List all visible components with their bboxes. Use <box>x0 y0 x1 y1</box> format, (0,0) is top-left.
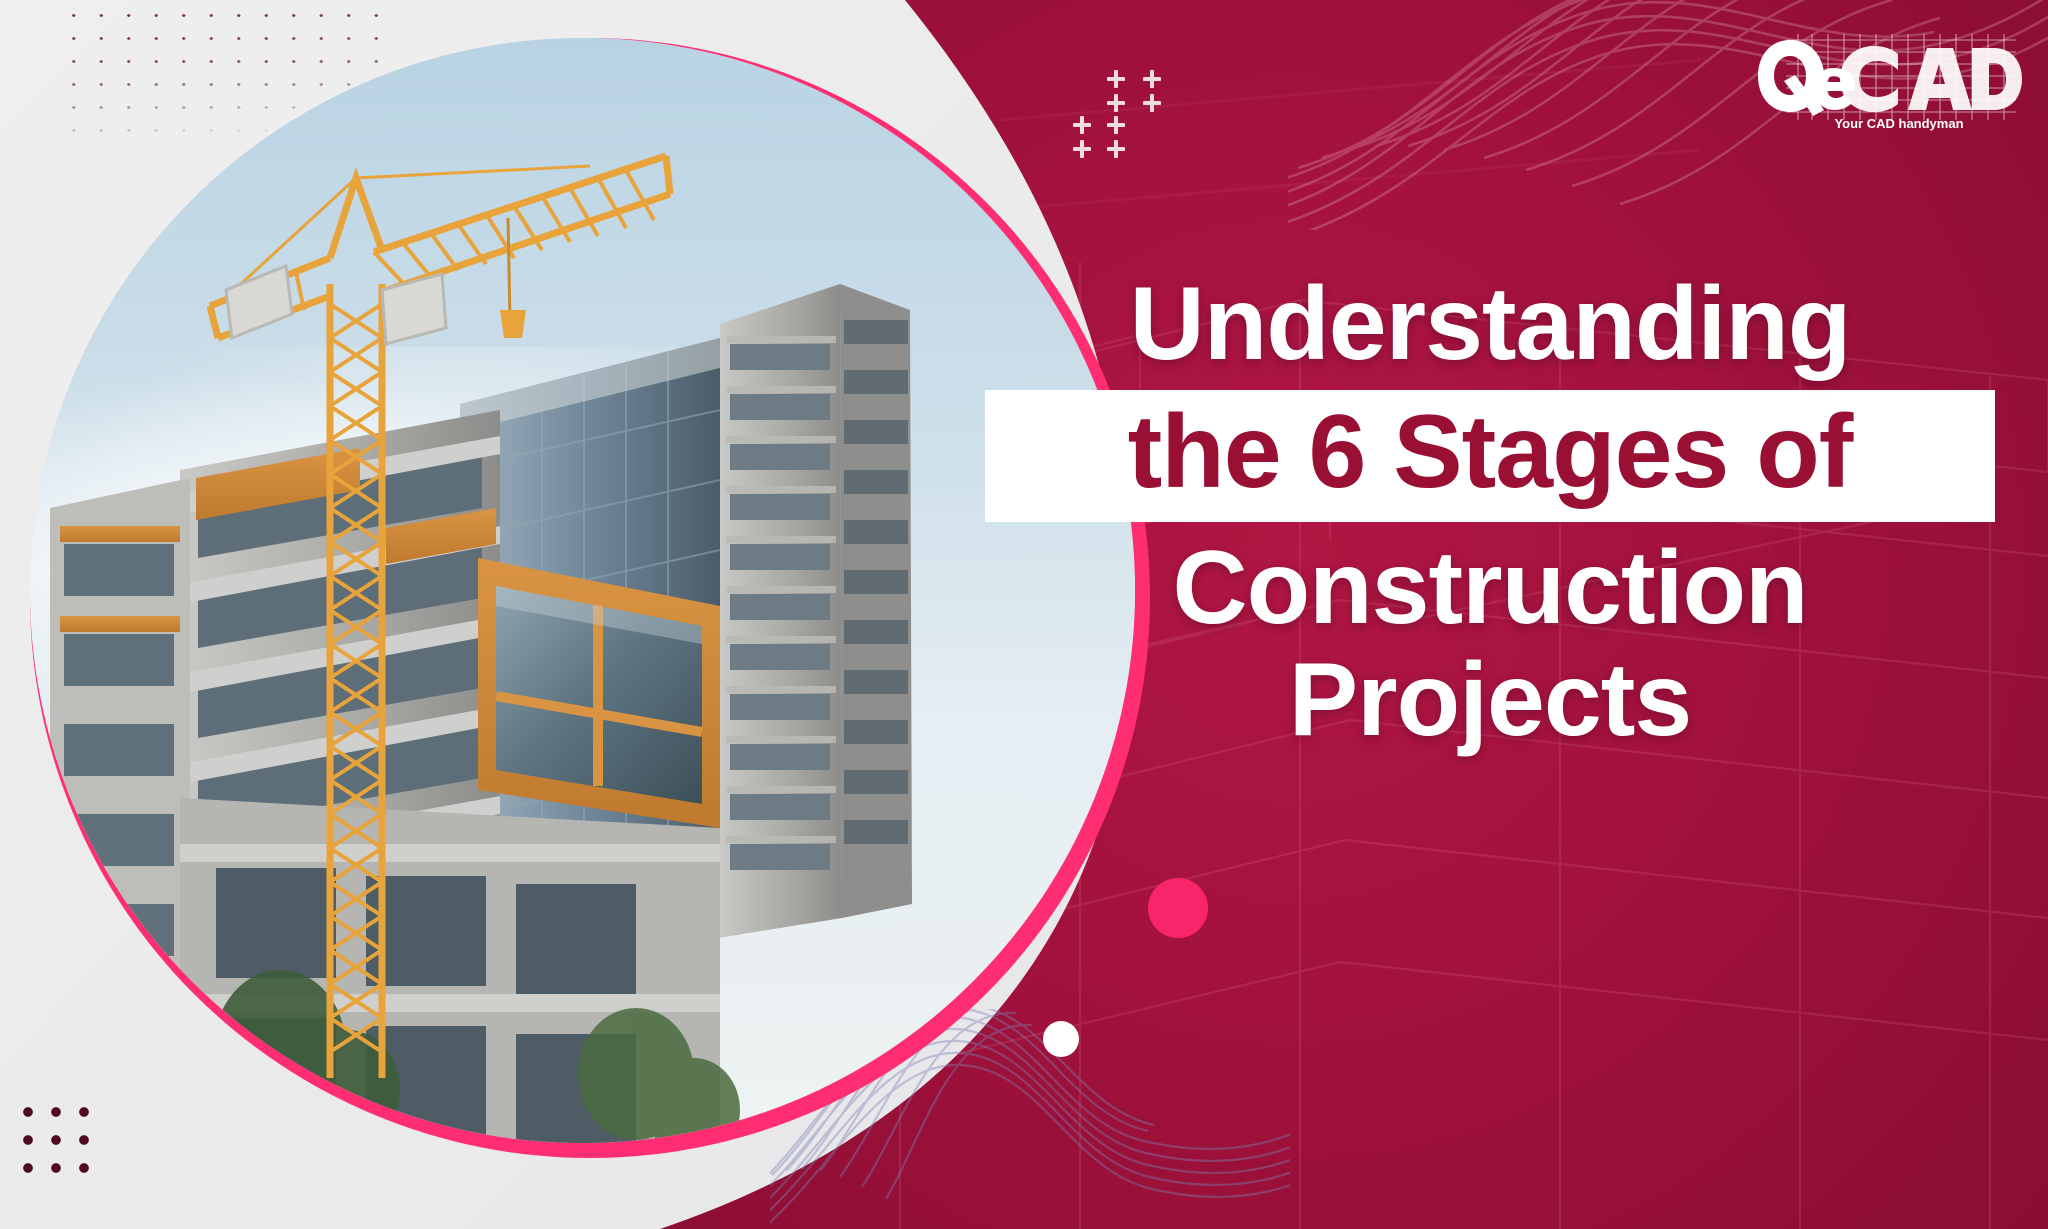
plus-icon <box>1143 94 1161 112</box>
title-line-4: Projects <box>985 644 1995 756</box>
construction-site-photo <box>30 38 1135 1143</box>
title-line-1: Understanding <box>985 268 1995 380</box>
pink-circle-icon <box>1148 878 1208 938</box>
plus-icon <box>1143 70 1161 88</box>
photo-buildings <box>30 38 1135 1143</box>
title-line-3: Construction <box>985 532 1995 644</box>
page-title: Understanding the 6 Stages of Constructi… <box>985 268 1995 756</box>
building-left <box>50 478 190 978</box>
logo-tagline: Your CAD handyman <box>1834 116 1963 131</box>
title-line-2-highlighted: the 6 Stages of <box>985 390 1995 522</box>
white-circle-icon <box>1043 1021 1079 1057</box>
banner-canvas: Your CAD handyman Understanding the 6 St… <box>0 0 2048 1229</box>
tower-right <box>718 284 912 938</box>
qecad-logo-icon[interactable]: Your CAD handyman <box>1756 24 2026 132</box>
